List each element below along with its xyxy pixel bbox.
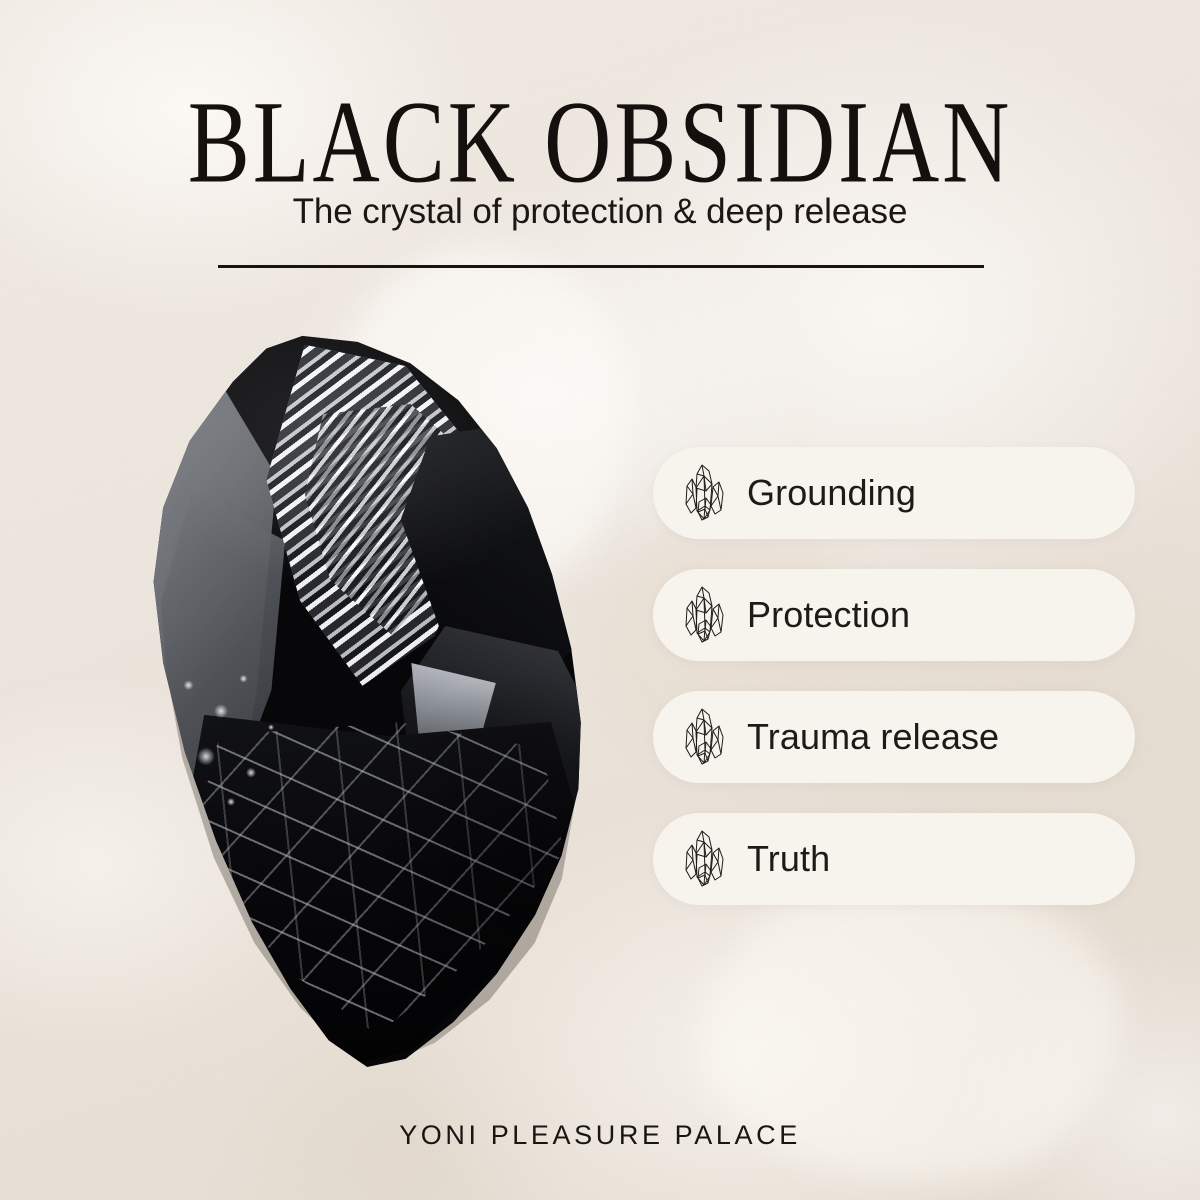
crystal-cluster-icon [675,462,729,524]
crystal-cluster-icon [675,828,729,890]
stone-body [132,330,612,1070]
benefit-label: Trauma release [747,716,999,758]
benefit-pill-trauma-release[interactable]: Trauma release [653,691,1135,783]
benefits-list: Grounding Protection [653,447,1135,905]
page-subtitle: The crystal of protection & deep release [0,192,1200,232]
benefit-label: Truth [747,838,830,880]
header-divider [218,265,984,268]
page-title: BLACK OBSIDIAN [18,84,1182,201]
crystal-info-poster: BLACK OBSIDIAN The crystal of protection… [0,0,1200,1200]
stone-gloss-overlay [132,330,612,1070]
brand-footer: YONI PLEASURE PALACE [0,1120,1200,1151]
crystal-cluster-icon [675,584,729,646]
benefit-label: Grounding [747,472,916,514]
obsidian-stone-image [132,330,612,1070]
benefit-pill-truth[interactable]: Truth [653,813,1135,905]
benefit-pill-protection[interactable]: Protection [653,569,1135,661]
benefit-pill-grounding[interactable]: Grounding [653,447,1135,539]
benefit-label: Protection [747,594,910,636]
crystal-cluster-icon [675,706,729,768]
